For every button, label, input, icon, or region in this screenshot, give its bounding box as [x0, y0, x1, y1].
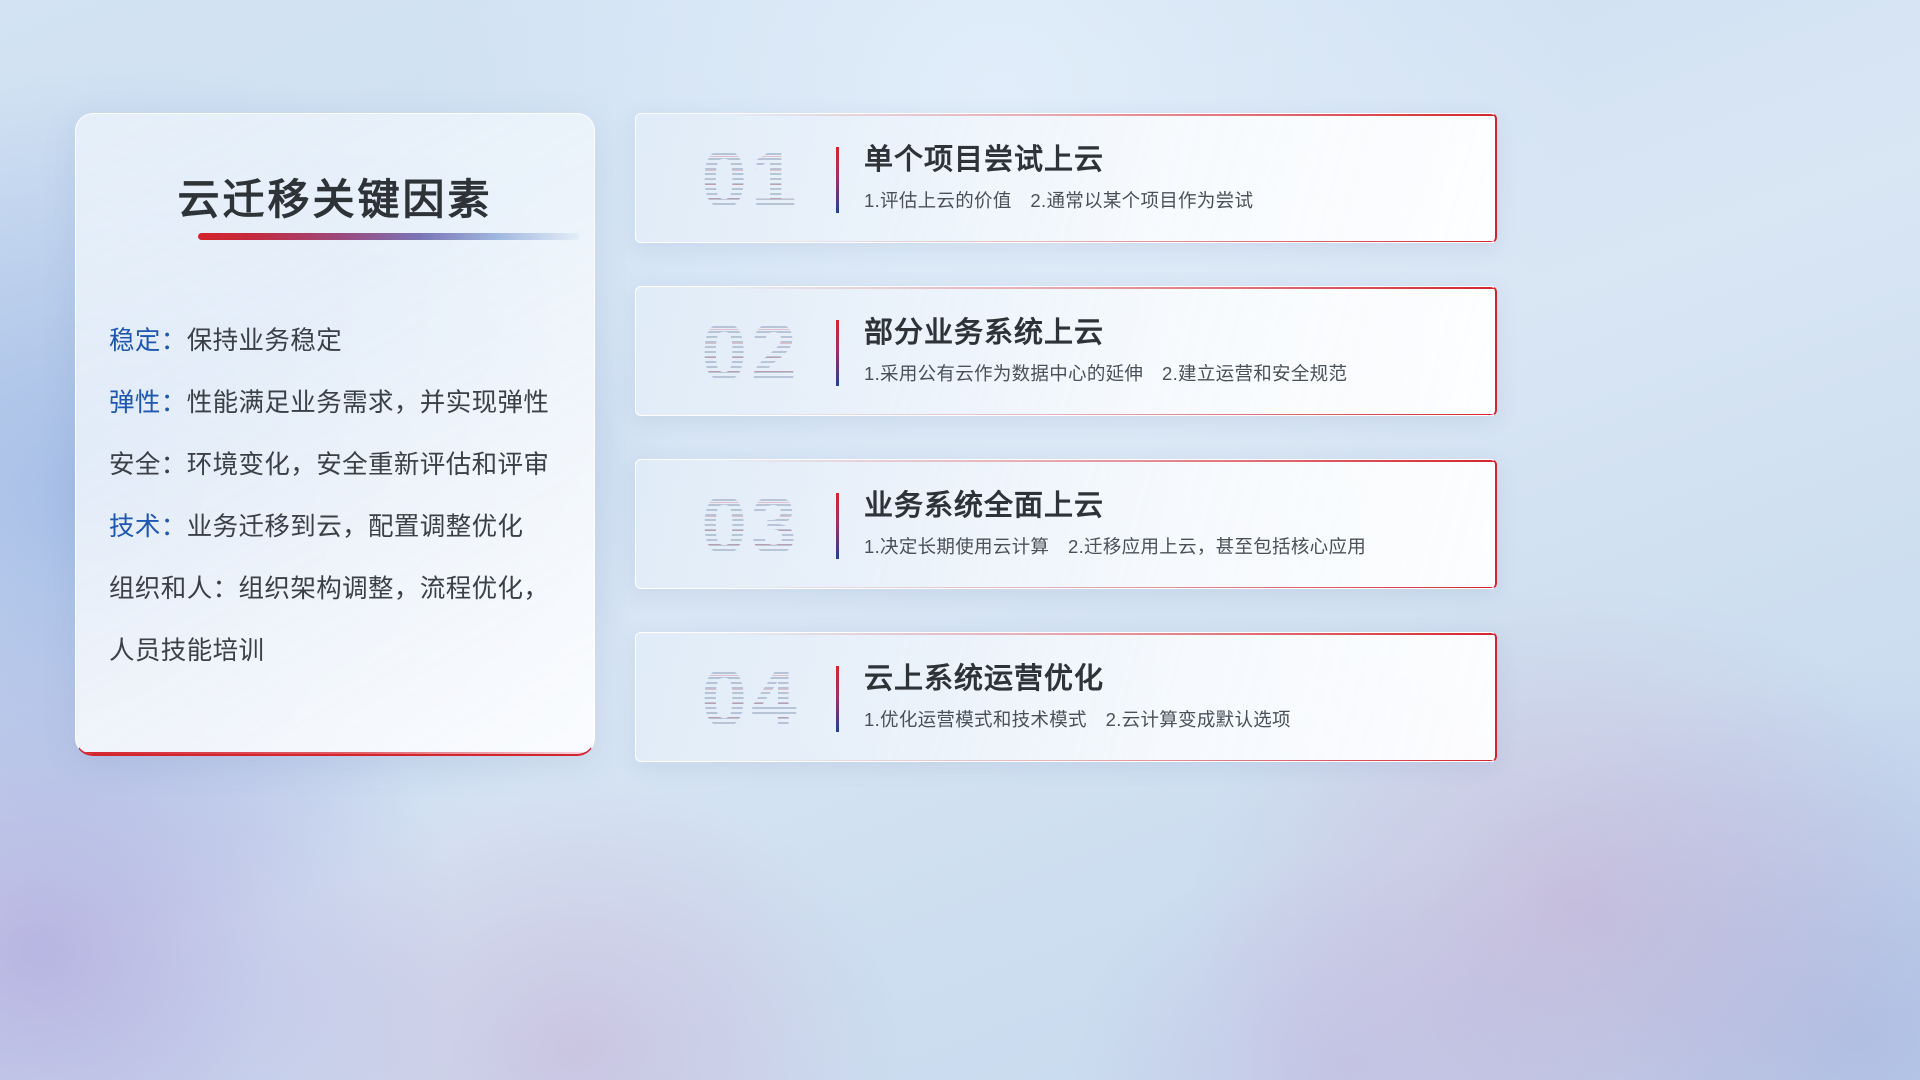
stage-subtitle: 1.采用公有云作为数据中心的延伸 2.建立运营和安全规范: [864, 361, 1479, 387]
factor-text: 业务迁移到云，配置调整优化: [187, 513, 524, 541]
factor-text: 人员技能培训: [109, 637, 264, 665]
stage-divider: [836, 493, 839, 559]
stage-subtitle: 1.决定长期使用云计算 2.迁移应用上云，甚至包括核心应用: [864, 534, 1479, 560]
factor-row: 弹性：性能满足业务需求，并实现弹性: [109, 372, 572, 434]
stage-divider: [836, 320, 839, 386]
stage-heading: 业务系统全面上云: [864, 486, 1479, 526]
stage-subtitle: 1.评估上云的价值 2.通常以某个项目作为尝试: [864, 188, 1479, 214]
stage-number: 02: [666, 301, 836, 405]
factor-label: 技术：: [109, 513, 187, 541]
stage-divider: [836, 147, 839, 213]
stage-number: 03: [666, 474, 836, 578]
factor-text: 性能满足业务需求，并实现弹性: [187, 389, 550, 417]
stage-body: 业务系统全面上云 1.决定长期使用云计算 2.迁移应用上云，甚至包括核心应用: [864, 486, 1479, 560]
factor-text: 环境变化，安全重新评估和评审: [187, 451, 550, 479]
stage-body: 部分业务系统上云 1.采用公有云作为数据中心的延伸 2.建立运营和安全规范: [864, 313, 1479, 387]
factor-text: 保持业务稳定: [187, 327, 342, 355]
slide-canvas: 云迁移关键因素 稳定：保持业务稳定 弹性：性能满足业务需求，并实现弹性 安全：环…: [0, 0, 1920, 1080]
factor-list: 稳定：保持业务稳定 弹性：性能满足业务需求，并实现弹性 安全：环境变化，安全重新…: [109, 310, 572, 682]
stage-card[interactable]: 02 02 部分业务系统上云 1.采用公有云作为数据中心的延伸 2.建立运营和安…: [635, 286, 1497, 416]
factor-label: 弹性：: [109, 389, 187, 417]
stage-heading: 部分业务系统上云: [864, 313, 1479, 353]
stage-body: 云上系统运营优化 1.优化运营模式和技术模式 2.云计算变成默认选项: [864, 659, 1479, 733]
stage-number: 01: [666, 128, 836, 232]
stage-card[interactable]: 01 01 单个项目尝试上云 1.评估上云的价值 2.通常以某个项目作为尝试: [635, 113, 1497, 243]
stage-card[interactable]: 04 04 云上系统运营优化 1.优化运营模式和技术模式 2.云计算变成默认选项: [635, 632, 1497, 762]
factor-label: 安全：: [109, 451, 187, 479]
factor-label: 稳定：: [109, 327, 187, 355]
factor-row: 安全：环境变化，安全重新评估和评审: [109, 434, 572, 496]
factor-row: 组织和人：组织架构调整，流程优化，: [109, 558, 572, 620]
factor-row: 技术：业务迁移到云，配置调整优化: [109, 496, 572, 558]
title-underline-rule: [198, 233, 580, 240]
panel-title: 云迁移关键因素: [76, 166, 594, 227]
factor-row: 稳定：保持业务稳定: [109, 310, 572, 372]
factor-text: 组织架构调整，流程优化，: [239, 575, 550, 603]
factor-row: 人员技能培训: [109, 620, 572, 682]
stage-heading: 云上系统运营优化: [864, 659, 1479, 699]
key-factors-panel: 云迁移关键因素 稳定：保持业务稳定 弹性：性能满足业务需求，并实现弹性 安全：环…: [75, 113, 595, 756]
stage-body: 单个项目尝试上云 1.评估上云的价值 2.通常以某个项目作为尝试: [864, 140, 1479, 214]
stage-card[interactable]: 03 03 业务系统全面上云 1.决定长期使用云计算 2.迁移应用上云，甚至包括…: [635, 459, 1497, 589]
stage-subtitle: 1.优化运营模式和技术模式 2.云计算变成默认选项: [864, 707, 1479, 733]
stage-divider: [836, 666, 839, 732]
stage-heading: 单个项目尝试上云: [864, 140, 1479, 180]
stage-number: 04: [666, 647, 836, 751]
factor-label: 组织和人：: [109, 575, 239, 603]
stage-card-list: 01 01 单个项目尝试上云 1.评估上云的价值 2.通常以某个项目作为尝试 0…: [635, 113, 1497, 805]
